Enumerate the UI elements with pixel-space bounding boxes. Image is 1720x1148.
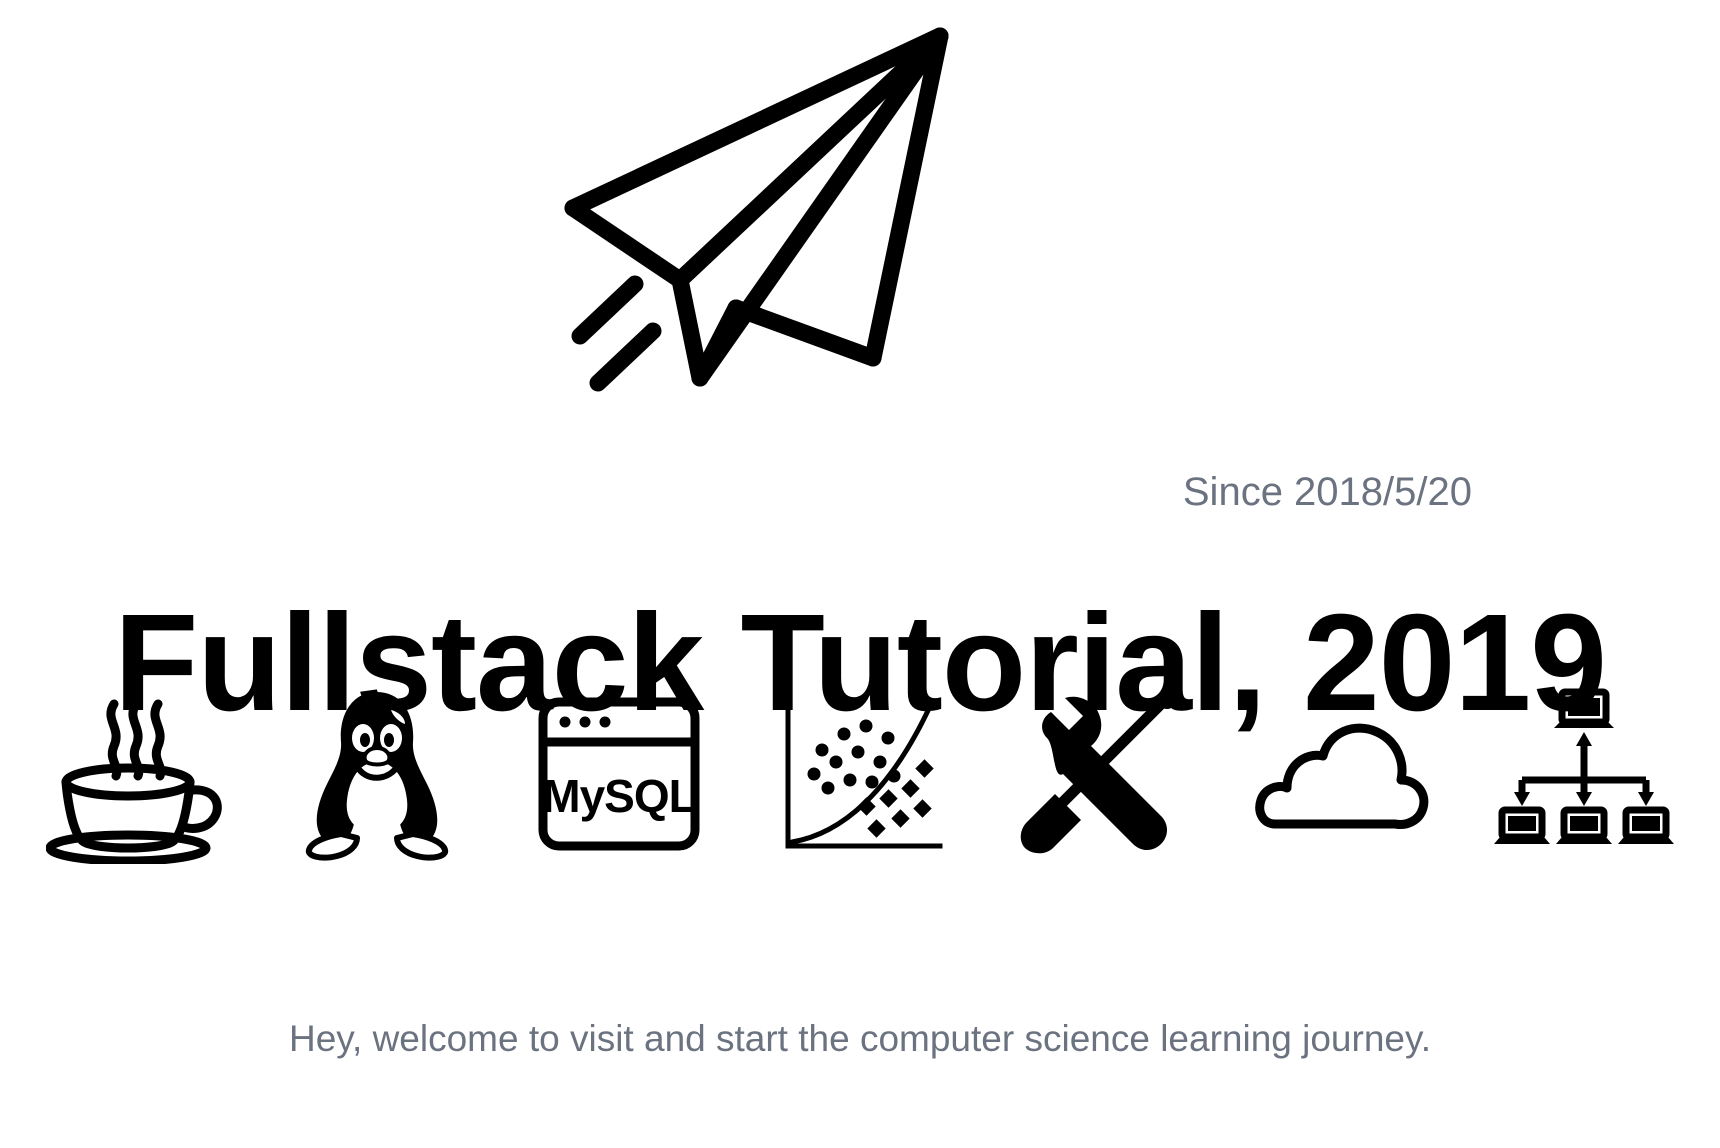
network-laptops-icon[interactable] [1486,676,1682,872]
tagline: Hey, welcome to visit and start the comp… [0,1018,1720,1060]
tech-icon-row: MySQL [38,676,1682,872]
linux-penguin-icon[interactable] [279,676,475,872]
coffee-cup-icon[interactable] [38,676,234,872]
svg-text:MySQL: MySQL [542,770,695,822]
since-label: Since 2018/5/20 [1183,470,1472,515]
wrench-screwdriver-icon[interactable] [1003,676,1199,872]
paper-plane-send-icon[interactable] [540,18,980,418]
mysql-window-icon[interactable]: MySQL [521,676,717,872]
landing-page: Since 2018/5/20 Fullstack Tutorial, 2019 [0,0,1720,1148]
scatter-plot-icon[interactable] [762,676,958,872]
cloud-icon[interactable] [1245,676,1441,872]
